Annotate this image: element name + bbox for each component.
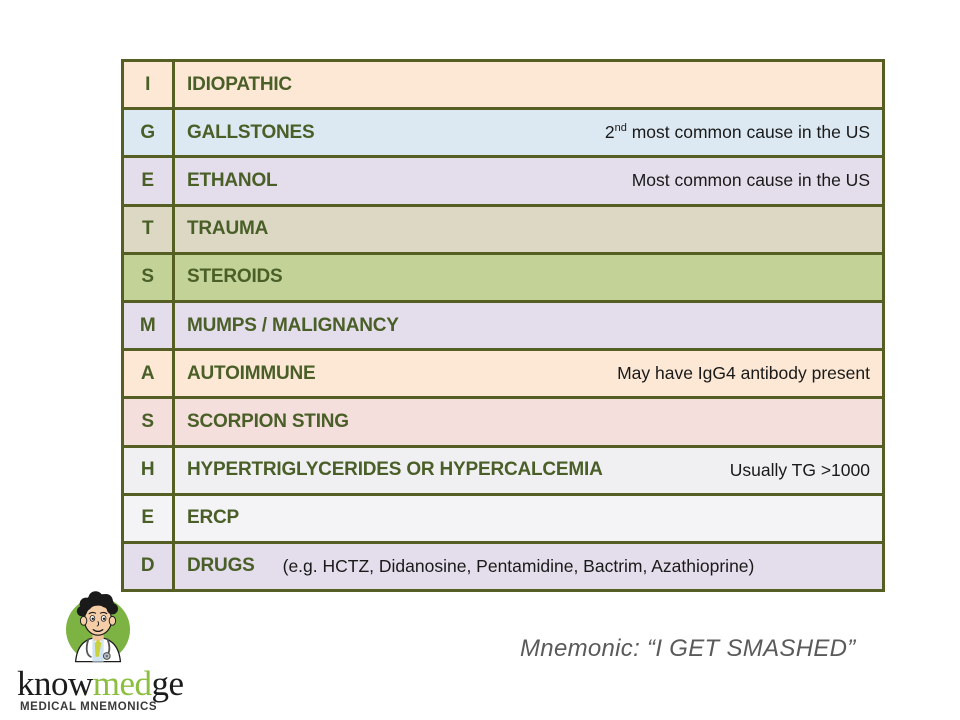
logo-wordmark: knowmedge — [17, 666, 184, 701]
table-row: MMUMPS / MALIGNANCY — [124, 303, 882, 351]
row-term: AUTOIMMUNE — [187, 363, 316, 385]
table-row: DDRUGS(e.g. HCTZ, Didanosine, Pentamidin… — [124, 544, 882, 589]
row-letter: D — [124, 544, 175, 589]
table-row: SSTEROIDS — [124, 255, 882, 303]
logo-tagline: MEDICAL MNEMONICS — [20, 701, 157, 713]
doctor-avatar-icon — [58, 588, 138, 668]
row-content: IDIOPATHIC — [175, 62, 882, 107]
row-content: HYPERTRIGLYCERIDES OR HYPERCALCEMIAUsual… — [175, 448, 882, 493]
row-content: SCORPION STING — [175, 399, 882, 444]
row-note: Most common cause in the US — [618, 170, 870, 191]
row-term: HYPERTRIGLYCERIDES OR HYPERCALCEMIA — [187, 459, 603, 481]
row-letter: E — [124, 496, 175, 541]
row-content: ETHANOLMost common cause in the US — [175, 158, 882, 203]
row-term: DRUGS — [187, 555, 255, 577]
table-row: GGALLSTONES2nd most common cause in the … — [124, 110, 882, 158]
table-row: AAUTOIMMUNEMay have IgG4 antibody presen… — [124, 351, 882, 399]
row-content: MUMPS / MALIGNANCY — [175, 303, 882, 348]
row-note: 2nd most common cause in the US — [591, 122, 870, 143]
table-row: IIDIOPATHIC — [124, 62, 882, 110]
logo-word-know: know — [17, 664, 93, 703]
row-letter: A — [124, 351, 175, 396]
row-term: TRAUMA — [187, 218, 268, 240]
row-note: (e.g. HCTZ, Didanosine, Pentamidine, Bac… — [269, 556, 755, 577]
row-letter: M — [124, 303, 175, 348]
row-note-superscript: nd — [615, 122, 627, 134]
row-content: DRUGS(e.g. HCTZ, Didanosine, Pentamidine… — [175, 544, 882, 589]
row-letter: S — [124, 399, 175, 444]
row-term: GALLSTONES — [187, 122, 315, 144]
row-content: AUTOIMMUNEMay have IgG4 antibody present — [175, 351, 882, 396]
table-row: TTRAUMA — [124, 207, 882, 255]
table-row: EETHANOLMost common cause in the US — [124, 158, 882, 206]
row-term: ETHANOL — [187, 170, 277, 192]
row-note-tail: most common cause in the US — [627, 122, 870, 142]
logo-word-ge: ge — [152, 664, 184, 703]
row-letter: T — [124, 207, 175, 252]
knowmedge-logo: knowmedge MEDICAL MNEMONICS — [12, 588, 187, 713]
row-letter: H — [124, 448, 175, 493]
row-content: GALLSTONES2nd most common cause in the U… — [175, 110, 882, 155]
mnemonic-table: IIDIOPATHICGGALLSTONES2nd most common ca… — [121, 59, 885, 592]
table-row: EERCP — [124, 496, 882, 544]
row-content: STEROIDS — [175, 255, 882, 300]
logo-word-med: med — [93, 664, 152, 703]
row-content: TRAUMA — [175, 207, 882, 252]
table-row: HHYPERTRIGLYCERIDES OR HYPERCALCEMIAUsua… — [124, 448, 882, 496]
row-note: Usually TG >1000 — [716, 460, 870, 481]
row-content: ERCP — [175, 496, 882, 541]
row-note: May have IgG4 antibody present — [603, 363, 870, 384]
row-letter: I — [124, 62, 175, 107]
row-letter: G — [124, 110, 175, 155]
row-letter: E — [124, 158, 175, 203]
row-term: IDIOPATHIC — [187, 74, 292, 96]
row-term: STEROIDS — [187, 266, 283, 288]
row-note-lead: 2 — [605, 122, 615, 142]
row-term: MUMPS / MALIGNANCY — [187, 315, 399, 337]
row-term: SCORPION STING — [187, 411, 349, 433]
row-term: ERCP — [187, 507, 239, 529]
row-letter: S — [124, 255, 175, 300]
table-row: SSCORPION STING — [124, 399, 882, 447]
mnemonic-caption: Mnemonic: “I GET SMASHED” — [520, 635, 856, 663]
